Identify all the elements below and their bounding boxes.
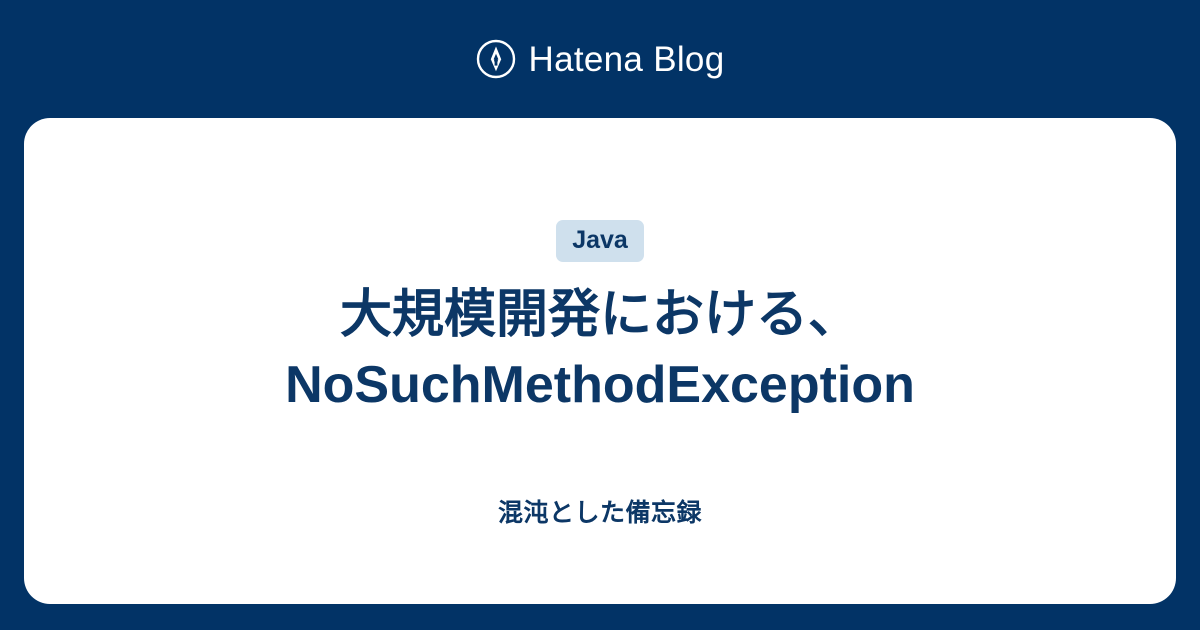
category-tag-java[interactable]: Java [556, 220, 644, 262]
entry-title: 大規模開発における、NoSuchMethodException [120, 280, 1080, 420]
entry-title-line-2: NoSuchMethodException [285, 356, 915, 414]
category-tag-row: Java [84, 220, 1116, 262]
fountain-pen-nib-icon [476, 39, 516, 79]
entry-title-line-1: 大規模開発における、 [340, 286, 860, 344]
brand-name-text: Hatena Blog [529, 42, 725, 77]
hatena-blog-logo[interactable]: Hatena Blog [476, 39, 725, 79]
brand-header: Hatena Blog [0, 0, 1200, 118]
blog-name: 混沌とした備忘録 [498, 498, 702, 528]
entry-card: Java 大規模開発における、NoSuchMethodException 混沌と… [24, 118, 1176, 604]
ogp-card-canvas: Hatena Blog Java 大規模開発における、NoSuchMethodE… [0, 0, 1200, 630]
entry-card-content: Java 大規模開発における、NoSuchMethodException 混沌と… [84, 118, 1116, 528]
